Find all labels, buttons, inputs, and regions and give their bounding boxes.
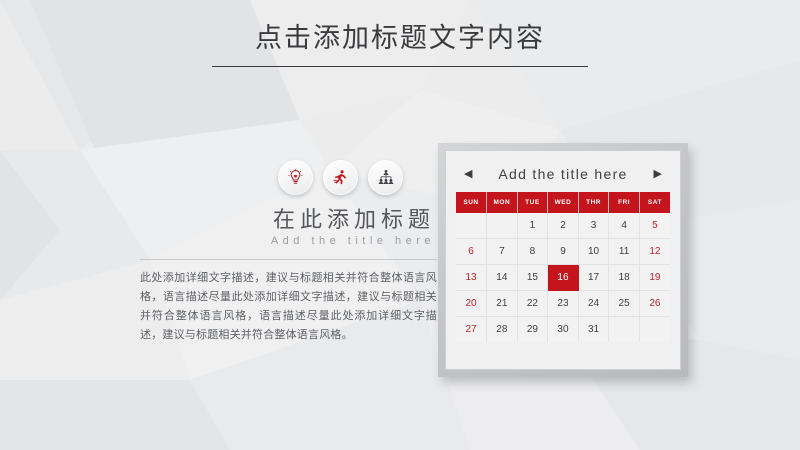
calendar-day-2[interactable]: 2 [548, 213, 579, 239]
calendar-day-24[interactable]: 24 [578, 291, 609, 317]
calendar-day-4[interactable]: 4 [609, 213, 640, 239]
calendar-day-8[interactable]: 8 [517, 239, 548, 265]
calendar-day-7[interactable]: 7 [487, 239, 518, 265]
calendar-day-29[interactable]: 29 [517, 317, 548, 343]
icon-badge-idea[interactable] [278, 160, 313, 195]
prev-month-arrow-icon[interactable]: ◀ [464, 169, 472, 180]
section-subtitle-en: Add the title here [140, 235, 437, 247]
calendar-table: SUNMONTUEWEDTHRFRISAT 123456789101112131… [456, 192, 670, 342]
next-month-arrow-icon[interactable]: ▶ [654, 169, 662, 180]
calendar-day-30[interactable]: 30 [548, 317, 579, 343]
calendar-weekday-wed: WED [548, 192, 579, 213]
calendar-day-empty [456, 213, 487, 239]
calendar-day-18[interactable]: 18 [609, 265, 640, 291]
calendar-day-22[interactable]: 22 [517, 291, 548, 317]
title-block: 点击添加标题文字内容 [0, 24, 800, 67]
calendar-weekday-mon: MON [487, 192, 518, 213]
calendar-day-10[interactable]: 10 [578, 239, 609, 265]
calendar-weekday-tue: TUE [517, 192, 548, 213]
calendar-day-empty [487, 213, 518, 239]
calendar-week-row: 12345 [456, 213, 670, 239]
calendar-day-11[interactable]: 11 [609, 239, 640, 265]
calendar-header: ◀ Add the title here ▶ [456, 161, 670, 187]
calendar-panel: ◀ Add the title here ▶ SUNMONTUEWEDTHRFR… [445, 150, 681, 370]
calendar-day-31[interactable]: 31 [578, 317, 609, 343]
calendar-title[interactable]: Add the title here [472, 166, 653, 182]
calendar-week-row: 13141516171819 [456, 265, 670, 291]
lightbulb-icon [287, 169, 304, 186]
body-divider [140, 259, 437, 260]
calendar-day-14[interactable]: 14 [487, 265, 518, 291]
calendar-weekday-sat: SAT [639, 192, 670, 213]
org-chart-icon [377, 169, 395, 186]
icon-badge-action[interactable] [323, 160, 358, 195]
calendar-weekday-row: SUNMONTUEWEDTHRFRISAT [456, 192, 670, 213]
calendar-day-27[interactable]: 27 [456, 317, 487, 343]
calendar-weekday-fri: FRI [609, 192, 640, 213]
section-subtitle-cn: 在此添加标题 [140, 207, 437, 232]
calendar-week-row: 2728293031 [456, 317, 670, 343]
calendar-day-23[interactable]: 23 [548, 291, 579, 317]
running-person-icon [332, 169, 349, 186]
calendar-day-1[interactable]: 1 [517, 213, 548, 239]
calendar-day-25[interactable]: 25 [609, 291, 640, 317]
calendar-day-20[interactable]: 20 [456, 291, 487, 317]
body-paragraph: 此处添加详细文字描述，建议与标题相关并符合整体语言风格，语言描述尽量此处添加详细… [140, 269, 437, 345]
calendar-weekday-thr: THR [578, 192, 609, 213]
left-content-column: 在此添加标题 Add the title here 此处添加详细文字描述，建议与… [140, 160, 437, 345]
calendar-day-9[interactable]: 9 [548, 239, 579, 265]
calendar-week-row: 20212223242526 [456, 291, 670, 317]
calendar-day-6[interactable]: 6 [456, 239, 487, 265]
calendar-day-26[interactable]: 26 [639, 291, 670, 317]
calendar-day-empty [609, 317, 640, 343]
calendar-day-16[interactable]: 16 [548, 265, 579, 291]
calendar-day-21[interactable]: 21 [487, 291, 518, 317]
calendar-widget: ◀ Add the title here ▶ SUNMONTUEWEDTHRFR… [438, 143, 688, 377]
calendar-day-28[interactable]: 28 [487, 317, 518, 343]
calendar-weekday-sun: SUN [456, 192, 487, 213]
calendar-week-row: 6789101112 [456, 239, 670, 265]
calendar-day-3[interactable]: 3 [578, 213, 609, 239]
calendar-day-13[interactable]: 13 [456, 265, 487, 291]
slide-canvas: 点击添加标题文字内容 [0, 0, 800, 450]
icon-badge-row [140, 160, 437, 195]
calendar-day-19[interactable]: 19 [639, 265, 670, 291]
calendar-day-15[interactable]: 15 [517, 265, 548, 291]
icon-badge-team[interactable] [368, 160, 403, 195]
calendar-day-12[interactable]: 12 [639, 239, 670, 265]
calendar-day-empty [639, 317, 670, 343]
calendar-day-17[interactable]: 17 [578, 265, 609, 291]
page-title: 点击添加标题文字内容 [0, 24, 800, 54]
calendar-day-5[interactable]: 5 [639, 213, 670, 239]
title-underline [212, 66, 588, 67]
